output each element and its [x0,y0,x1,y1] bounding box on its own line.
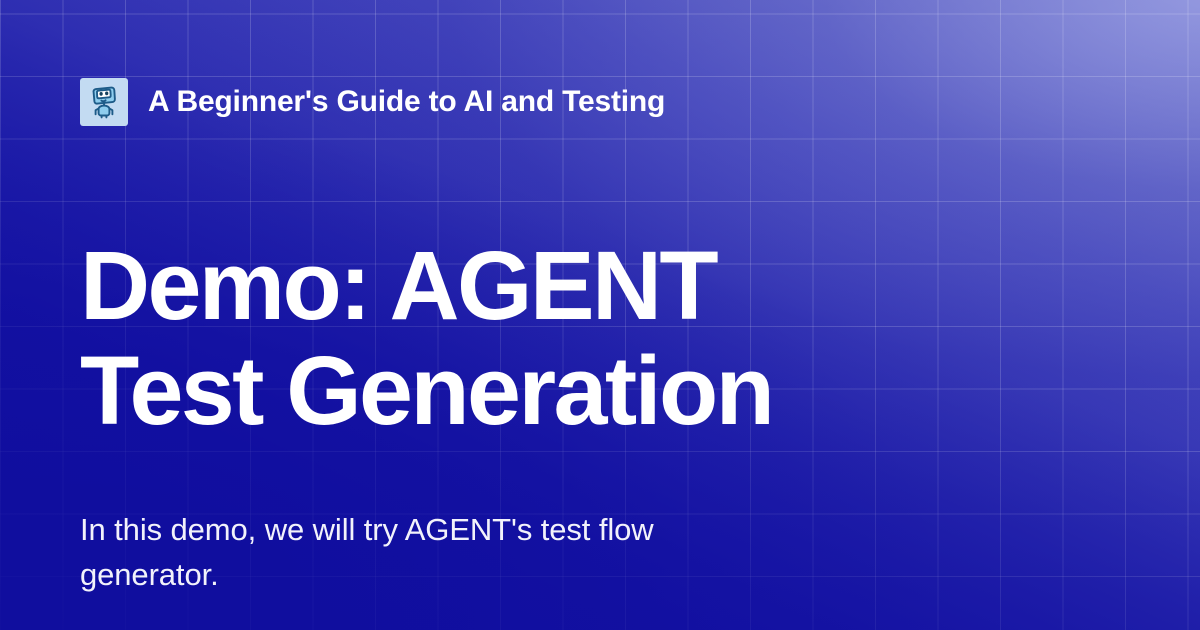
brand-row: A Beginner's Guide to AI and Testing [80,78,1120,126]
page-title: Demo: AGENT Test Generation [80,234,910,444]
og-card: A Beginner's Guide to AI and Testing Dem… [0,0,1200,630]
robot-icon [80,78,128,126]
card-content: A Beginner's Guide to AI and Testing Dem… [0,0,1200,630]
page-subtitle: In this demo, we will try AGENT's test f… [80,508,770,596]
brand-title: A Beginner's Guide to AI and Testing [148,87,665,117]
